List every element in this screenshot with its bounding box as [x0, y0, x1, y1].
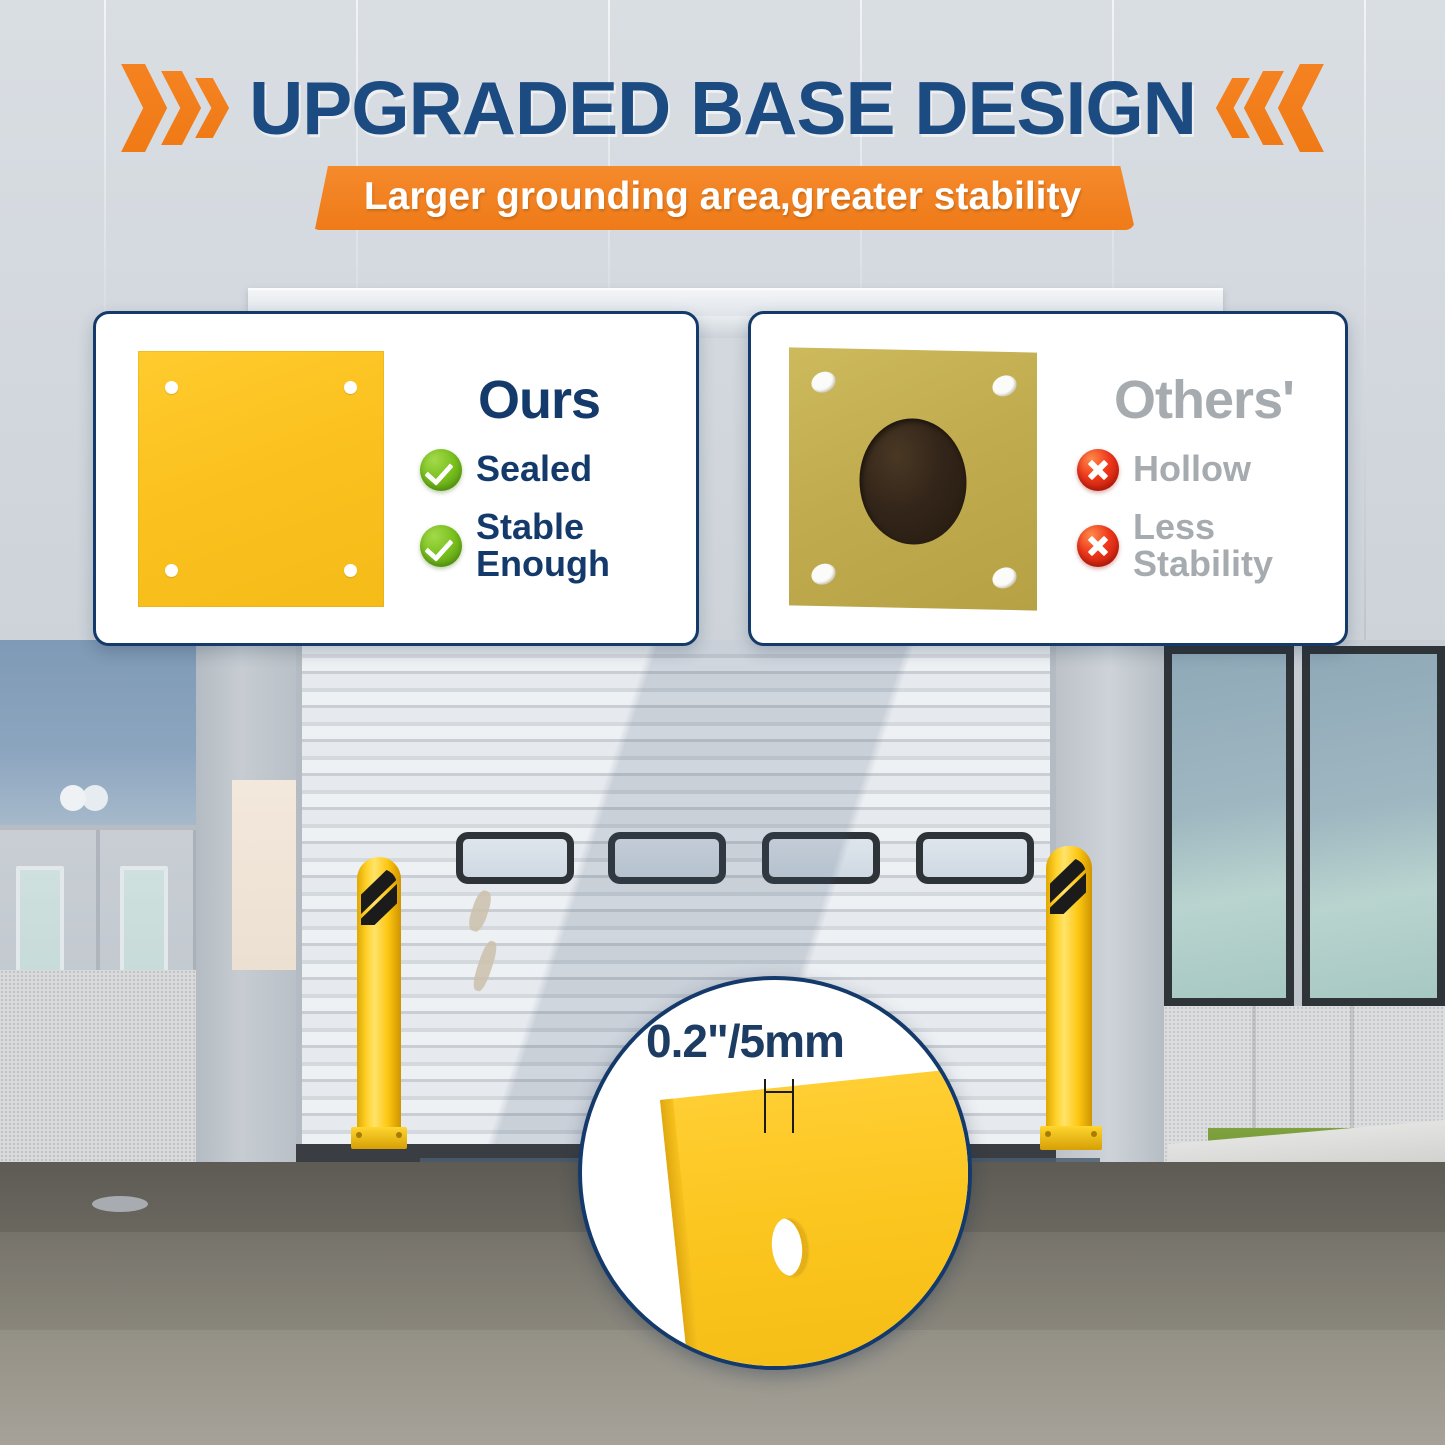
- check-circle-icon: [420, 525, 462, 567]
- feature-label: Less Stability: [1133, 509, 1273, 582]
- comparison-card-others: Others' Hollow Less Stability: [748, 311, 1348, 646]
- bolt-hole-icon: [344, 564, 357, 577]
- safety-bollard-right: [1040, 846, 1100, 1148]
- x-circle-icon: [1077, 449, 1119, 491]
- wall-scuff: [466, 889, 494, 934]
- feature-label-line2: Enough: [476, 543, 610, 584]
- left-stucco-base: [0, 970, 222, 1170]
- bolt-hole-icon: [808, 559, 839, 588]
- others-heading: Others': [1114, 369, 1294, 431]
- x-circle-icon: [1077, 525, 1119, 567]
- rollup-door-window: [916, 832, 1034, 884]
- safety-bollard-left: [351, 857, 407, 1147]
- feature-item: Stable Enough: [420, 509, 610, 582]
- ours-heading: Ours: [478, 369, 600, 431]
- bolt-hole-icon: [989, 563, 1020, 592]
- others-plate-area: [751, 350, 1037, 608]
- bollard-base-plate: [351, 1127, 407, 1149]
- rollup-door-window: [456, 832, 574, 884]
- ours-feature-list: Sealed Stable Enough: [420, 449, 610, 582]
- feature-item: Less Stability: [1077, 509, 1273, 582]
- rollup-door-window: [608, 832, 726, 884]
- ours-base-plate-image: [138, 351, 384, 607]
- beige-wall-panel: [232, 780, 304, 970]
- bolt-hole-icon: [165, 381, 178, 394]
- plate-edge: [660, 1099, 707, 1370]
- others-card-content: Others' Hollow Less Stability: [1037, 375, 1345, 582]
- right-window-pane: [1164, 646, 1294, 1006]
- chevron-left-triple-icon: [1222, 64, 1324, 152]
- feature-item: Sealed: [420, 449, 610, 491]
- hazard-stripe-icon: [361, 869, 397, 925]
- feature-label-line1: Less: [1133, 506, 1215, 547]
- bolt-hole-icon: [989, 371, 1020, 400]
- feature-label: Hollow: [1133, 451, 1251, 488]
- chevron-right-triple-icon: [121, 64, 223, 152]
- others-feature-list: Hollow Less Stability: [1077, 449, 1273, 582]
- hollow-center-hole-icon: [860, 417, 967, 545]
- comparison-card-ours: Ours Sealed Stable Enough: [93, 311, 699, 646]
- right-window-pane: [1302, 646, 1445, 1006]
- subtitle-wrap: Larger grounding area,greater stability: [0, 166, 1445, 230]
- feature-item: Hollow: [1077, 449, 1273, 491]
- feature-label: Sealed: [476, 451, 592, 488]
- subtitle-banner: Larger grounding area,greater stability: [310, 166, 1135, 230]
- ours-plate-area: [96, 351, 384, 607]
- feature-label-line1: Stable: [476, 506, 584, 547]
- feature-label: Stable Enough: [476, 509, 610, 582]
- pavement-puddle: [92, 1196, 148, 1212]
- check-circle-icon: [420, 449, 462, 491]
- product-infographic: UPGRADED BASE DESIGN Larger grounding ar…: [0, 0, 1445, 1445]
- others-base-plate-image: [789, 347, 1037, 610]
- title-row: UPGRADED BASE DESIGN: [0, 58, 1445, 158]
- left-window-band: [0, 640, 210, 830]
- bolt-hole-icon: [165, 564, 178, 577]
- chevron-right-icon: [161, 71, 201, 145]
- thickness-caliper-icon: [764, 1079, 794, 1133]
- plate-edge-closeup: [660, 1062, 972, 1370]
- rollup-door-window: [762, 832, 880, 884]
- feature-label-line2: Stability: [1133, 543, 1273, 584]
- bolt-hole-icon: [344, 381, 357, 394]
- bolt-hole-icon: [808, 367, 839, 396]
- chevron-left-icon: [1278, 64, 1324, 152]
- ours-card-content: Ours Sealed Stable Enough: [384, 375, 696, 582]
- bollard-base-plate: [1040, 1126, 1102, 1150]
- chevron-right-icon: [121, 64, 167, 152]
- thickness-label: 0.2"/5mm: [646, 1014, 844, 1068]
- wall-scuff: [470, 939, 499, 993]
- hazard-stripe-icon: [1050, 858, 1086, 914]
- thickness-magnifier-callout: 0.2"/5mm: [578, 976, 972, 1370]
- page-title: UPGRADED BASE DESIGN: [249, 65, 1196, 151]
